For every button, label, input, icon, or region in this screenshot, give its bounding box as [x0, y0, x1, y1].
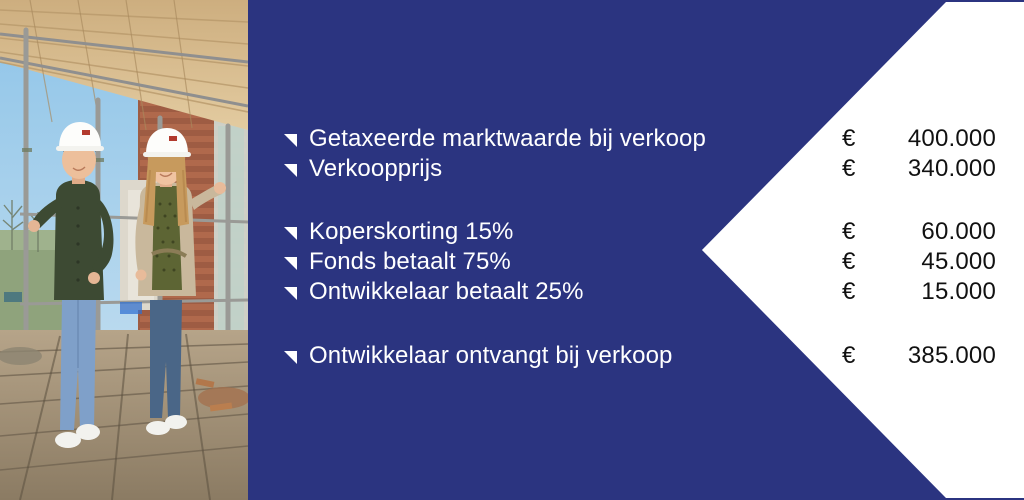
- row-amount: € 15.000: [842, 277, 996, 307]
- row-label: Ontwikkelaar ontvangt bij verkoop: [309, 341, 842, 371]
- row-label: Koperskorting 15%: [309, 217, 842, 247]
- triangle-down-left-icon: [284, 227, 297, 240]
- currency-symbol: €: [842, 341, 878, 371]
- row-label: Verkoopprijs: [309, 154, 842, 184]
- slide-root: Getaxeerde marktwaarde bij verkoop € 400…: [0, 0, 1024, 500]
- row-amount: € 45.000: [842, 247, 996, 277]
- currency-symbol: €: [842, 217, 878, 247]
- currency-symbol: €: [842, 277, 878, 307]
- figures-group-waarde: Getaxeerde marktwaarde bij verkoop € 400…: [284, 124, 996, 184]
- row-amount: € 340.000: [842, 154, 996, 184]
- table-row: Fonds betaalt 75% € 45.000: [284, 247, 996, 277]
- row-label: Getaxeerde marktwaarde bij verkoop: [309, 124, 842, 154]
- row-label: Fonds betaalt 75%: [309, 247, 842, 277]
- row-amount: € 400.000: [842, 124, 996, 154]
- amount-value: 15.000: [878, 277, 996, 307]
- figures-group-resultaat: Ontwikkelaar ontvangt bij verkoop € 385.…: [284, 341, 996, 371]
- amount-value: 45.000: [878, 247, 996, 277]
- triangle-down-left-icon: [284, 287, 297, 300]
- amount-value: 340.000: [878, 154, 996, 184]
- amount-value: 385.000: [878, 341, 996, 371]
- row-label: Ontwikkelaar betaalt 25%: [309, 277, 842, 307]
- row-amount: € 60.000: [842, 217, 996, 247]
- triangle-down-left-icon: [284, 134, 297, 147]
- amount-value: 60.000: [878, 217, 996, 247]
- table-row: Getaxeerde marktwaarde bij verkoop € 400…: [284, 124, 996, 154]
- figures-group-korting: Koperskorting 15% € 60.000 Fonds betaalt…: [284, 217, 996, 307]
- table-row: Koperskorting 15% € 60.000: [284, 217, 996, 247]
- triangle-down-left-icon: [284, 257, 297, 270]
- currency-symbol: €: [842, 124, 878, 154]
- amount-value: 400.000: [878, 124, 996, 154]
- table-row: Ontwikkelaar betaalt 25% € 15.000: [284, 277, 996, 307]
- row-amount: € 385.000: [842, 341, 996, 371]
- table-row: Verkoopprijs € 340.000: [284, 154, 996, 184]
- figures-table: Getaxeerde marktwaarde bij verkoop € 400…: [0, 0, 1024, 500]
- table-row: Ontwikkelaar ontvangt bij verkoop € 385.…: [284, 341, 996, 371]
- currency-symbol: €: [842, 247, 878, 277]
- triangle-down-left-icon: [284, 164, 297, 177]
- triangle-down-left-icon: [284, 351, 297, 364]
- currency-symbol: €: [842, 154, 878, 184]
